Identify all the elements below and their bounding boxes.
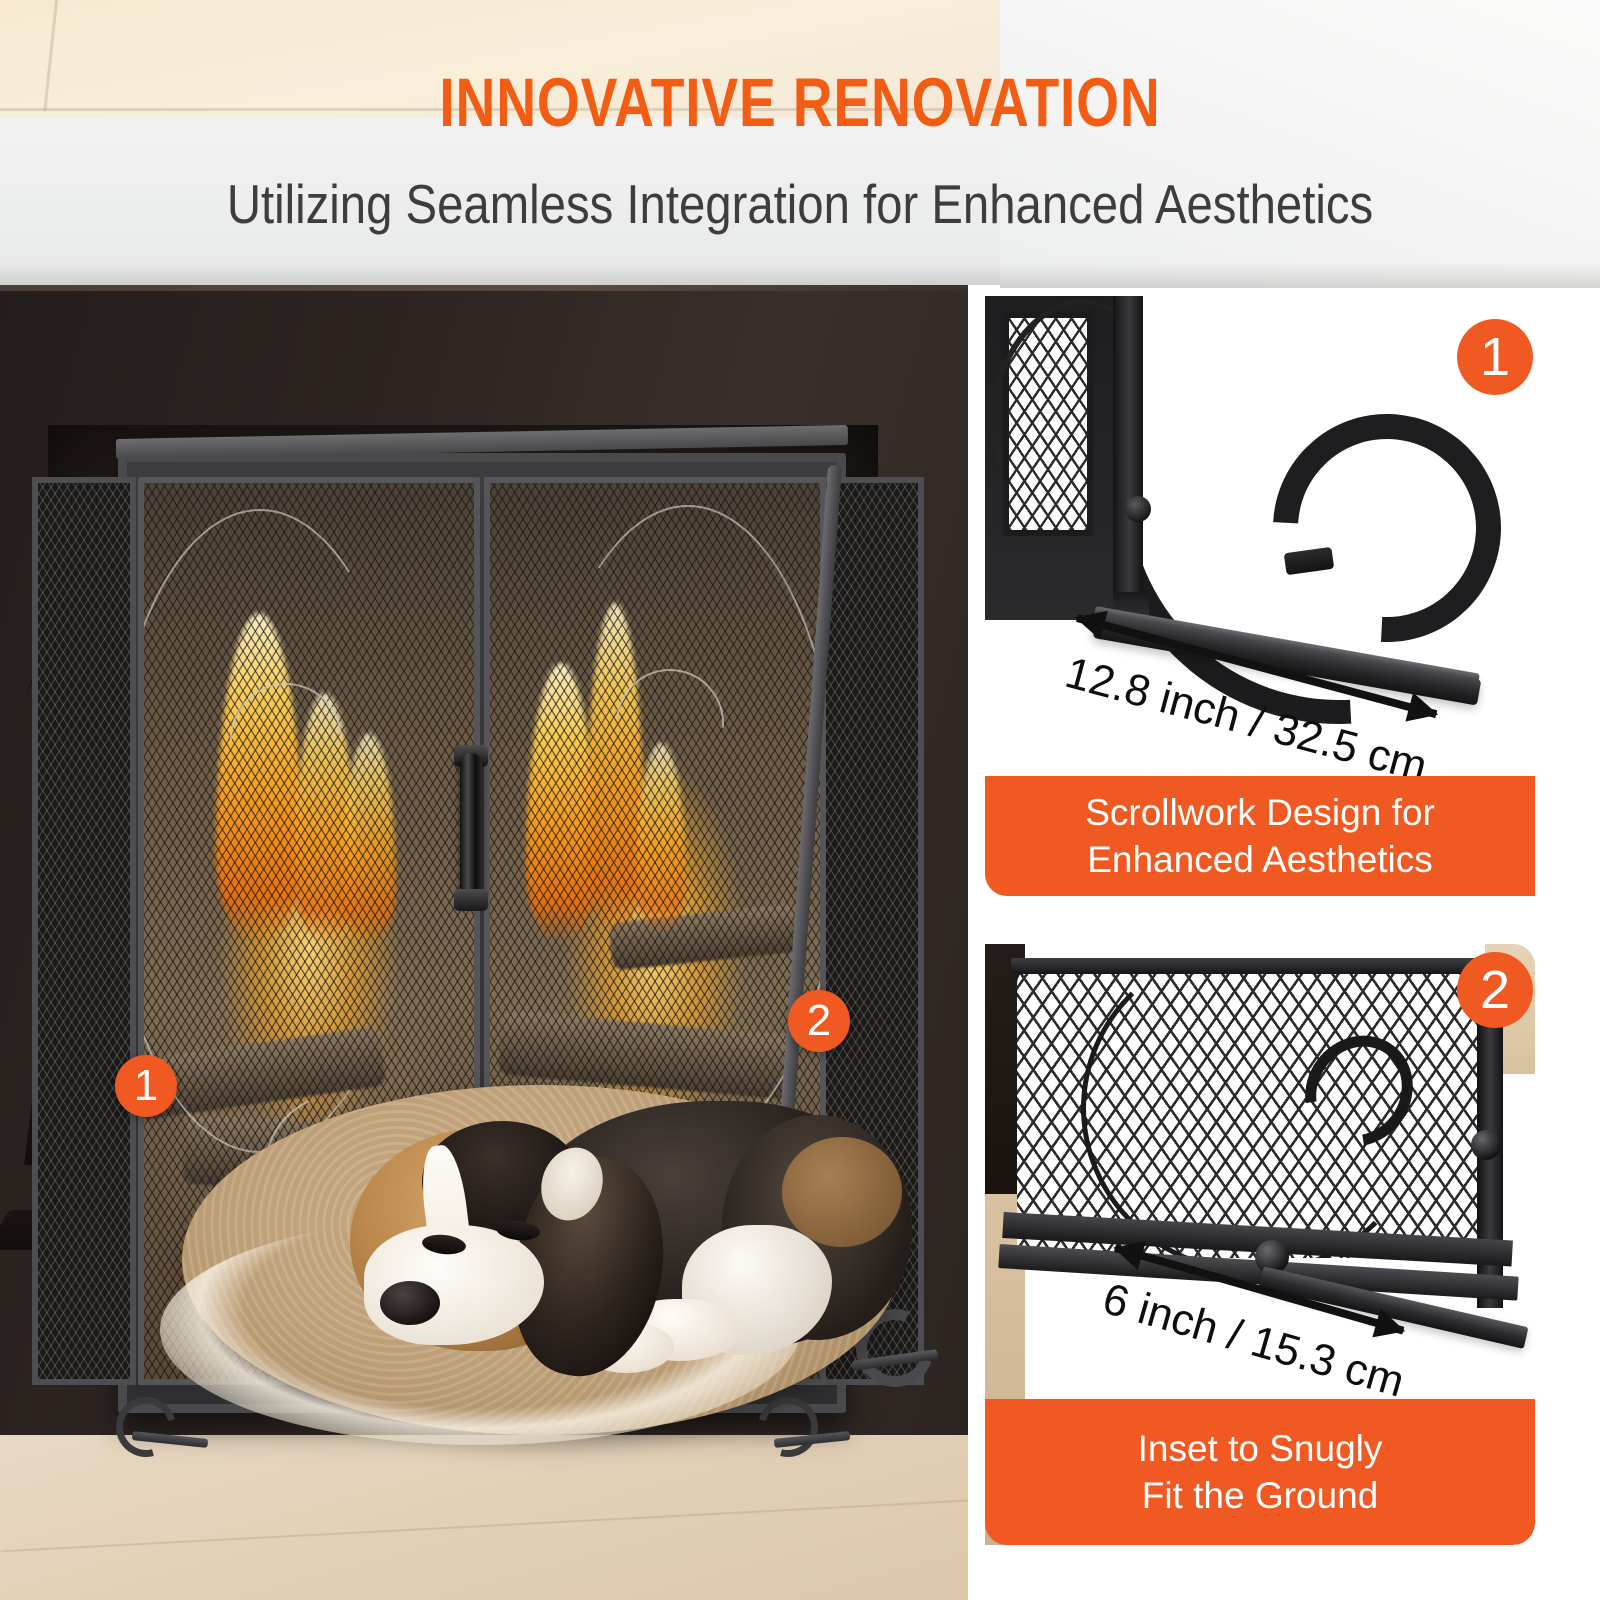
callout-badge-2: 2 xyxy=(1457,952,1533,1028)
floor-plank-line xyxy=(1,1500,968,1553)
dog-tan-patch xyxy=(782,1137,902,1247)
diamond-mesh-panel xyxy=(1017,968,1489,1258)
callout-caption-1-line1: Scrollwork Design for xyxy=(1085,789,1435,836)
wood-floor xyxy=(0,1435,968,1600)
photo-badge-1: 1 xyxy=(115,1055,177,1117)
main-product-photo: 1 2 xyxy=(0,285,968,1600)
callout-caption-2-line1: Inset to Snugly xyxy=(1138,1425,1383,1472)
photo-badge-2-label: 2 xyxy=(807,996,831,1046)
callout-badge-1-overlay-label: 1 xyxy=(1480,326,1510,388)
page-title: INNOVATIVE RENOVATION xyxy=(160,64,1440,142)
screen-foot-left xyxy=(116,1397,190,1447)
beagle-puppy xyxy=(330,1085,900,1415)
callout-badge-2-label: 2 xyxy=(1480,959,1510,1021)
product-feature-graphic: INNOVATIVE RENOVATION Utilizing Seamless… xyxy=(0,0,1600,1600)
ceiling-seam-line xyxy=(43,0,58,112)
bolt-head-side xyxy=(1471,1130,1501,1160)
callout-caption-2-line2: Fit the Ground xyxy=(1142,1472,1379,1519)
wall-background xyxy=(1000,0,1600,288)
dog-nose xyxy=(380,1281,440,1325)
photo-badge-2: 2 xyxy=(788,990,850,1052)
screen-vertical-post xyxy=(1113,296,1143,616)
mesh-top-rail xyxy=(1011,958,1507,974)
screen-edge xyxy=(985,296,1126,620)
callout-caption-1-line2: Enhanced Aesthetics xyxy=(1087,836,1433,883)
page-subtitle: Utilizing Seamless Integration for Enhan… xyxy=(112,172,1488,236)
photo-badge-1-label: 1 xyxy=(134,1061,158,1111)
header-banner: INNOVATIVE RENOVATION Utilizing Seamless… xyxy=(0,0,1600,288)
door-handle[interactable] xyxy=(460,753,482,903)
callout-panel-2: 6 inch / 15.3 cm Inset to Snugly Fit the… xyxy=(985,944,1535,1545)
callout-caption-1: Scrollwork Design for Enhanced Aesthetic… xyxy=(985,776,1535,896)
callout-panel-1: 12.8 inch / 32.5 cm 1 Scrollwork Design … xyxy=(985,296,1535,896)
screw-head xyxy=(1125,496,1151,522)
screen-side-mesh-left xyxy=(32,477,136,1385)
handle-cap-bottom xyxy=(454,889,488,911)
callout-caption-2: Inset to Snugly Fit the Ground xyxy=(985,1399,1535,1545)
callout-badge-1-overlay: 1 xyxy=(1457,319,1533,395)
surround-top-edge xyxy=(0,285,968,291)
